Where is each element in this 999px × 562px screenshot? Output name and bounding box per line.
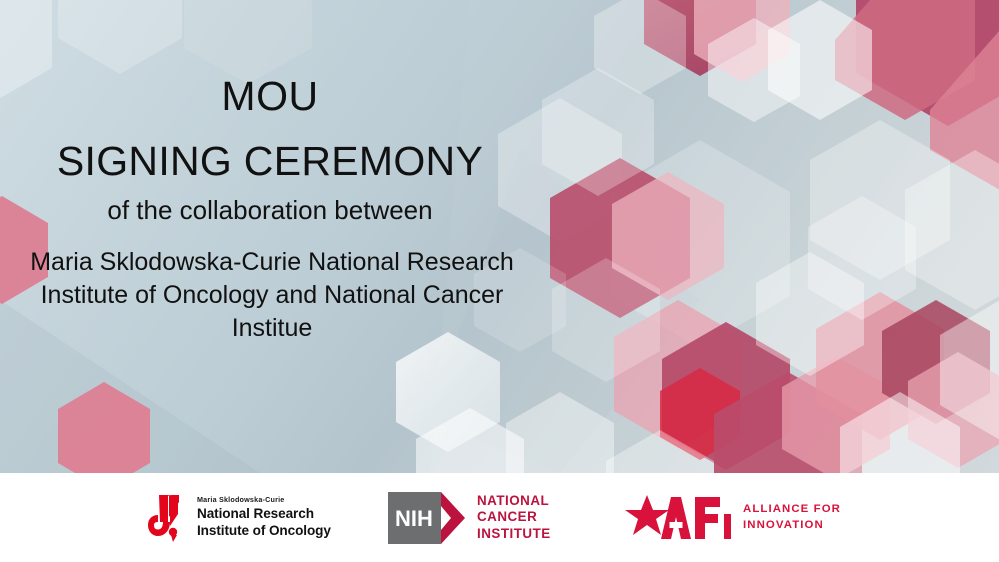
afi-mark-icon	[625, 495, 731, 541]
footer-logo-bar: Maria Sklodowska-Curie National Research…	[0, 473, 999, 562]
nci-line-1: NATIONAL	[477, 493, 551, 509]
title-line-organizations: Maria Sklodowska-Curie National Research…	[8, 246, 536, 345]
nih-badge-icon: NIH	[388, 492, 468, 544]
nrio-line-1: National Research	[197, 506, 331, 523]
hexagon-background-artwork	[0, 0, 999, 473]
logo-nih-national-cancer-institute: NIH NATIONAL CANCER INSTITUTE	[388, 473, 551, 562]
logo-national-research-institute-of-oncology: Maria Sklodowska-Curie National Research…	[148, 473, 331, 562]
presentation-slide: MOU SIGNING CEREMONY of the collaboratio…	[0, 0, 999, 562]
title-line-subtitle: of the collaboration between	[0, 196, 540, 226]
afi-line-2: INNOVATION	[743, 518, 841, 533]
nrio-line-2: Institute of Oncology	[197, 523, 331, 540]
logo-alliance-for-innovation: ALLIANCE FOR INNOVATION	[625, 473, 841, 562]
nci-line-3: INSTITUTE	[477, 526, 551, 542]
hexagon-pattern-svg	[0, 0, 999, 473]
title-line-mou: MOU	[0, 76, 540, 117]
nrio-small-line: Maria Sklodowska-Curie	[197, 496, 331, 503]
nci-line-2: CANCER	[477, 509, 551, 525]
nrio-mark-icon	[148, 492, 188, 544]
afi-line-1: ALLIANCE FOR	[743, 502, 841, 517]
title-line-ceremony: SIGNING CEREMONY	[0, 141, 540, 182]
nih-badge-text: NIH	[395, 506, 433, 531]
